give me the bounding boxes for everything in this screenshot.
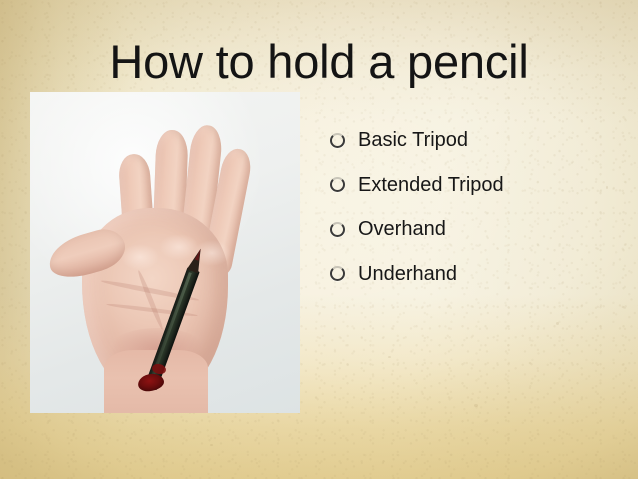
list-item-label: Underhand bbox=[358, 262, 457, 286]
list-item-label: Basic Tripod bbox=[358, 128, 468, 152]
list-item: Underhand bbox=[330, 252, 610, 297]
bullet-list: Basic Tripod Extended Tripod Overhand Un… bbox=[330, 118, 610, 296]
open-circle-icon bbox=[330, 133, 358, 148]
hand-holding-pencil-photo bbox=[30, 92, 300, 413]
slide: How to hold a pencil bbox=[0, 0, 638, 479]
list-item: Overhand bbox=[330, 207, 610, 252]
open-circle-icon bbox=[330, 177, 358, 192]
list-item: Extended Tripod bbox=[330, 163, 610, 208]
open-circle-icon bbox=[330, 266, 358, 281]
list-item: Basic Tripod bbox=[330, 118, 610, 163]
list-item-label: Extended Tripod bbox=[358, 173, 504, 197]
page-title: How to hold a pencil bbox=[0, 34, 638, 90]
open-circle-icon bbox=[330, 222, 358, 237]
hand-illustration bbox=[30, 92, 300, 413]
list-item-label: Overhand bbox=[358, 217, 446, 241]
